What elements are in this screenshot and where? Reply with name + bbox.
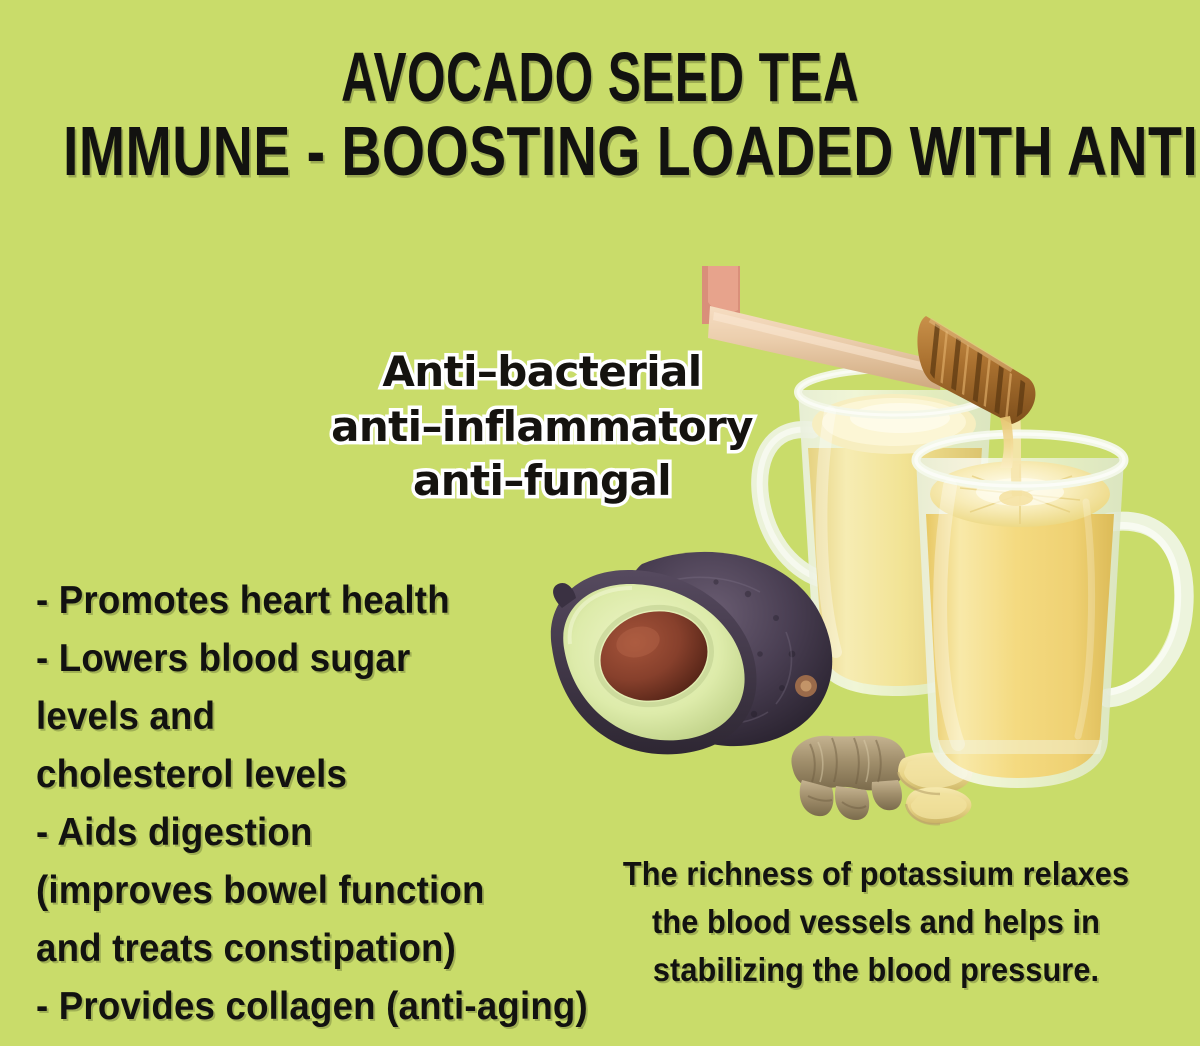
benefit-line: cholesterol levels <box>36 746 562 804</box>
benefit-line: - Lowers blood sugar <box>36 630 562 688</box>
antimicrobial-subhead: Anti–bacterial anti–inflammatory anti–fu… <box>296 345 788 509</box>
benefit-line: - Promotes heart health <box>36 572 562 630</box>
benefit-line: and treats constipation) <box>36 920 562 978</box>
benefit-line: (improves bowel function <box>36 862 562 920</box>
note-line: The richness of potassium relaxes <box>619 850 1132 898</box>
subhead-line-2: anti–inflammatory <box>296 400 788 455</box>
poster-title: AVOCADO SEED TEA IMMUNE - BOOSTING LOADE… <box>0 44 1200 180</box>
title-line-1: AVOCADO SEED TEA <box>120 44 1080 113</box>
potassium-note: The richness of potassium relaxes the bl… <box>600 850 1152 994</box>
title-line-2: IMMUNE - BOOSTING LOADED WITH ANTIOXIDAN… <box>63 118 1137 187</box>
benefit-line: - Provides collagen (anti-aging) <box>36 978 562 1036</box>
subhead-line-1: Anti–bacterial <box>296 345 788 400</box>
benefits-list: - Promotes heart health - Lowers blood s… <box>36 572 596 1036</box>
benefit-line: levels and <box>36 688 562 746</box>
glass-tea-mug-front-image <box>880 410 1196 800</box>
note-line: the blood vessels and helps in <box>619 898 1132 946</box>
subhead-line-3: anti–fungal <box>296 454 788 509</box>
note-line: stabilizing the blood pressure. <box>619 946 1132 994</box>
benefit-line: - Aids digestion <box>36 804 562 862</box>
infographic-poster: AVOCADO SEED TEA IMMUNE - BOOSTING LOADE… <box>0 0 1200 1046</box>
